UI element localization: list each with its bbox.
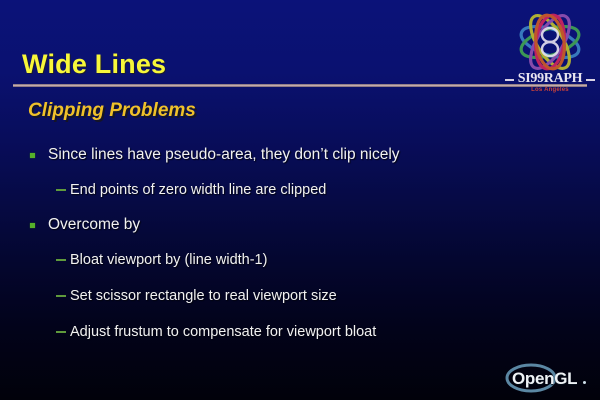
list-item: Set scissor rectangle to real viewport s…: [0, 278, 600, 314]
bullet-dash-icon: [56, 331, 66, 333]
siggraph-logo: SI99RAPH Los Angeles: [504, 8, 596, 102]
siggraph-rings-icon: [504, 8, 596, 78]
title-divider: [13, 84, 587, 87]
siggraph-wordmark: SI99RAPH: [504, 71, 596, 87]
bullet-text: Set scissor rectangle to real viewport s…: [70, 288, 337, 304]
bullet-text: End points of zero width line are clippe…: [70, 182, 326, 198]
slide-subtitle: Clipping Problems: [28, 100, 196, 122]
list-item: Bloat viewport by (line width-1): [0, 242, 600, 278]
bullet-text: Overcome by: [48, 216, 140, 233]
bullet-text: Since lines have pseudo-area, they don’t…: [48, 146, 400, 163]
bullet-text: Bloat viewport by (line width-1): [70, 252, 267, 268]
presentation-slide: Wide Lines Clipping Problems Since lines…: [0, 0, 600, 400]
list-item: Adjust frustum to compensate for viewpor…: [0, 314, 600, 350]
siggraph-location: Los Angeles: [504, 87, 596, 93]
list-item: End points of zero width line are clippe…: [0, 172, 600, 208]
list-item: Overcome by: [0, 208, 600, 242]
opengl-logo: OpenGL: [504, 362, 596, 396]
bullet-dash-icon: [56, 259, 66, 261]
bullet-text: Adjust frustum to compensate for viewpor…: [70, 324, 376, 340]
bullet-dash-icon: [56, 189, 66, 191]
list-item: Since lines have pseudo-area, they don’t…: [0, 138, 600, 172]
bullet-square-icon: [30, 223, 35, 228]
bullet-dash-icon: [56, 295, 66, 297]
slide-body: Since lines have pseudo-area, they don’t…: [0, 138, 600, 350]
opengl-dot-icon: [583, 381, 586, 384]
opengl-wordmark: OpenGL: [512, 369, 577, 389]
slide-title: Wide Lines: [22, 49, 166, 80]
bullet-square-icon: [30, 153, 35, 158]
siggraph-dash-right: [586, 79, 595, 81]
